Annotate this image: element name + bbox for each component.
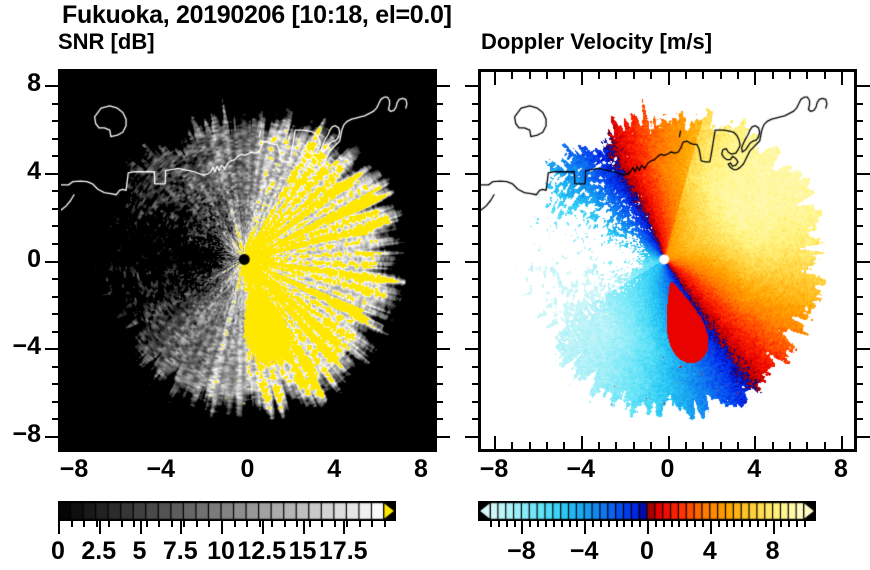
colorbar-major-tick bbox=[180, 520, 182, 534]
colorbar-minor-tick bbox=[592, 520, 594, 527]
colorbar-minor-tick bbox=[271, 520, 273, 527]
colorbar-minor-tick bbox=[346, 520, 348, 527]
colorbar-tick-label: 8 bbox=[733, 537, 813, 566]
colorbar-minor-tick bbox=[600, 520, 602, 527]
colorbar-minor-tick bbox=[96, 520, 98, 527]
doppler-panel-title: Doppler Velocity [m/s] bbox=[481, 29, 712, 55]
colorbar-minor-tick bbox=[780, 520, 782, 527]
colorbar-minor-tick bbox=[284, 520, 286, 527]
snr-panel-title: SNR [dB] bbox=[58, 29, 155, 55]
colorbar-major-tick bbox=[221, 520, 223, 534]
colorbar-minor-tick bbox=[108, 520, 110, 527]
colorbar-minor-tick bbox=[631, 520, 633, 527]
colorbar-minor-tick bbox=[133, 520, 135, 527]
colorbar-major-tick bbox=[343, 520, 345, 534]
colorbar-major-tick bbox=[303, 520, 305, 534]
snr-radar-image bbox=[61, 72, 434, 449]
x-tick-label: −8 bbox=[464, 455, 524, 484]
doppler-radar-image bbox=[481, 72, 854, 449]
snr-colorbar[interactable] bbox=[58, 501, 396, 521]
colorbar-minor-tick bbox=[686, 520, 688, 527]
colorbar-minor-tick bbox=[490, 520, 492, 527]
x-tick-label: −4 bbox=[551, 455, 611, 484]
y-tick-label: 8 bbox=[0, 69, 41, 98]
snr-plot-panel[interactable] bbox=[58, 69, 437, 452]
y-tick-label: 0 bbox=[0, 245, 41, 274]
colorbar-minor-tick bbox=[71, 520, 73, 527]
x-tick-label: 0 bbox=[218, 455, 278, 484]
colorbar-minor-tick bbox=[537, 520, 539, 527]
x-tick-label: −4 bbox=[131, 455, 191, 484]
colorbar-minor-tick bbox=[234, 520, 236, 527]
x-tick-label: 8 bbox=[391, 455, 451, 484]
colorbar-minor-tick bbox=[561, 520, 563, 527]
colorbar-minor-tick bbox=[765, 520, 767, 527]
colorbar-minor-tick bbox=[757, 520, 759, 527]
x-tick-label: −8 bbox=[44, 455, 104, 484]
colorbar-minor-tick bbox=[576, 520, 578, 527]
doppler-colorbar[interactable] bbox=[478, 501, 816, 521]
colorbar-minor-tick bbox=[334, 520, 336, 527]
colorbar-minor-tick bbox=[158, 520, 160, 527]
colorbar-major-tick bbox=[99, 520, 101, 534]
colorbar-minor-tick bbox=[639, 520, 641, 527]
doppler-colorbar-gradient bbox=[478, 501, 816, 521]
colorbar-minor-tick bbox=[208, 520, 210, 527]
colorbar-minor-tick bbox=[553, 520, 555, 527]
colorbar-minor-tick bbox=[741, 520, 743, 527]
colorbar-minor-tick bbox=[726, 520, 728, 527]
colorbar-minor-tick bbox=[196, 520, 198, 527]
colorbar-minor-tick bbox=[749, 520, 751, 527]
x-tick-label: 4 bbox=[304, 455, 364, 484]
colorbar-major-tick bbox=[584, 520, 586, 534]
colorbar-minor-tick bbox=[655, 520, 657, 527]
colorbar-minor-tick bbox=[796, 520, 798, 527]
colorbar-minor-tick bbox=[616, 520, 618, 527]
x-tick-label: 8 bbox=[811, 455, 870, 484]
colorbar-minor-tick bbox=[788, 520, 790, 527]
colorbar-minor-tick bbox=[506, 520, 508, 527]
colorbar-major-tick bbox=[773, 520, 775, 534]
colorbar-minor-tick bbox=[359, 520, 361, 527]
colorbar-minor-tick bbox=[83, 520, 85, 527]
colorbar-minor-tick bbox=[694, 520, 696, 527]
colorbar-minor-tick bbox=[371, 520, 373, 527]
x-tick-label: 4 bbox=[724, 455, 784, 484]
colorbar-minor-tick bbox=[608, 520, 610, 527]
colorbar-major-tick bbox=[262, 520, 264, 534]
doppler-plot-panel[interactable] bbox=[478, 69, 857, 452]
colorbar-minor-tick bbox=[671, 520, 673, 527]
colorbar-minor-tick bbox=[309, 520, 311, 527]
colorbar-minor-tick bbox=[384, 520, 386, 527]
colorbar-minor-tick bbox=[678, 520, 680, 527]
y-tick-label: −8 bbox=[0, 420, 41, 449]
y-tick-label: −4 bbox=[0, 332, 41, 361]
colorbar-minor-tick bbox=[804, 520, 806, 527]
colorbar-minor-tick bbox=[663, 520, 665, 527]
colorbar-major-tick bbox=[140, 520, 142, 534]
x-tick-label: 0 bbox=[638, 455, 698, 484]
colorbar-minor-tick bbox=[733, 520, 735, 527]
colorbar-minor-tick bbox=[702, 520, 704, 527]
colorbar-minor-tick bbox=[296, 520, 298, 527]
y-tick-label: 4 bbox=[0, 157, 41, 186]
colorbar-minor-tick bbox=[718, 520, 720, 527]
colorbar-tick-label: 17.5 bbox=[303, 537, 383, 566]
snr-colorbar-gradient bbox=[58, 501, 396, 521]
figure-title: Fukuoka, 20190206 [10:18, el=0.0] bbox=[62, 1, 452, 30]
colorbar-minor-tick bbox=[171, 520, 173, 527]
colorbar-minor-tick bbox=[545, 520, 547, 527]
colorbar-minor-tick bbox=[529, 520, 531, 527]
colorbar-minor-tick bbox=[498, 520, 500, 527]
colorbar-major-tick bbox=[58, 520, 60, 534]
colorbar-major-tick bbox=[647, 520, 649, 534]
colorbar-minor-tick bbox=[146, 520, 148, 527]
colorbar-minor-tick bbox=[623, 520, 625, 527]
colorbar-major-tick bbox=[710, 520, 712, 534]
colorbar-minor-tick bbox=[569, 520, 571, 527]
colorbar-minor-tick bbox=[321, 520, 323, 527]
colorbar-minor-tick bbox=[121, 520, 123, 527]
colorbar-minor-tick bbox=[259, 520, 261, 527]
colorbar-minor-tick bbox=[183, 520, 185, 527]
radar-figure: Fukuoka, 20190206 [10:18, el=0.0] SNR [d… bbox=[0, 0, 870, 570]
colorbar-minor-tick bbox=[514, 520, 516, 527]
colorbar-major-tick bbox=[521, 520, 523, 534]
colorbar-minor-tick bbox=[246, 520, 248, 527]
